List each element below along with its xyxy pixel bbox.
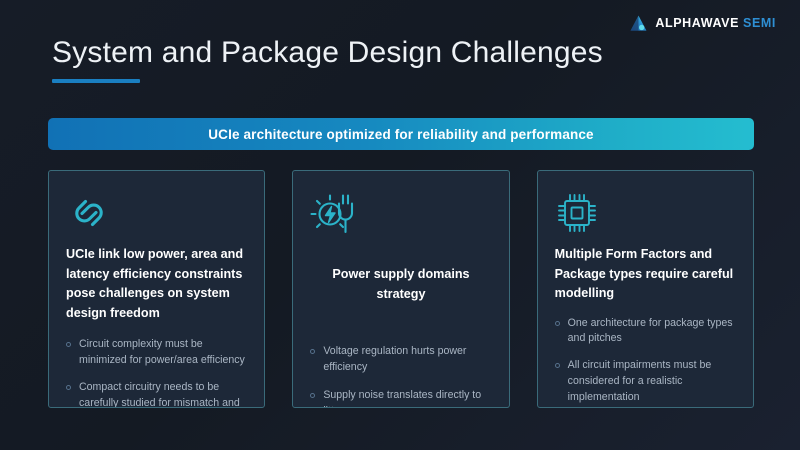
- list-item: Supply noise translates directly to jitt…: [310, 388, 491, 408]
- card-ucie-link: UCIe link low power, area and latency ef…: [48, 170, 265, 408]
- card-bullet-list: Voltage regulation hurts power efficienc…: [310, 344, 491, 408]
- bullet-ring-icon: [555, 321, 560, 326]
- highlight-banner-text: UCIe architecture optimized for reliabil…: [208, 127, 593, 142]
- bullet-ring-icon: [310, 393, 315, 398]
- title-underline-rule: [52, 79, 140, 83]
- bullet-ring-icon: [66, 342, 71, 347]
- card-form-factors: Multiple Form Factors and Package types …: [537, 170, 754, 408]
- page-title: System and Package Design Challenges: [52, 36, 603, 71]
- bullet-text: All circuit impairments must be consider…: [568, 358, 736, 406]
- logo-primary-text: ALPHAWAVE: [655, 17, 739, 30]
- list-item: One architecture for package types and p…: [555, 316, 736, 348]
- card-heading: UCIe link low power, area and latency ef…: [66, 245, 247, 323]
- bullet-text: One architecture for package types and p…: [568, 316, 736, 348]
- list-item: All circuit impairments must be consider…: [555, 358, 736, 406]
- chain-link-icon: [66, 191, 247, 235]
- microchip-icon: [555, 191, 736, 235]
- brand-logo: ALPHAWAVE SEMI: [629, 14, 776, 33]
- list-item: Voltage regulation hurts power efficienc…: [310, 344, 491, 376]
- card-bullet-list: One architecture for package types and p…: [555, 316, 736, 408]
- bullet-text: Voltage regulation hurts power efficienc…: [323, 344, 491, 376]
- bullet-ring-icon: [310, 349, 315, 354]
- card-bullet-list: Circuit complexity must be minimized for…: [66, 337, 247, 408]
- card-heading: Power supply domains strategy: [310, 265, 491, 304]
- bullet-ring-icon: [555, 363, 560, 368]
- bullet-ring-icon: [66, 385, 71, 390]
- highlight-banner: UCIe architecture optimized for reliabil…: [48, 118, 754, 150]
- power-plug-bolt-icon: [310, 191, 491, 237]
- logo-wordmark: ALPHAWAVE SEMI: [655, 17, 776, 30]
- bullet-text: Circuit complexity must be minimized for…: [79, 337, 247, 369]
- bullet-text: Supply noise translates directly to jitt…: [323, 388, 491, 408]
- list-item: Compact circuitry needs to be carefully …: [66, 380, 247, 408]
- card-heading: Multiple Form Factors and Package types …: [555, 245, 736, 304]
- card-row: UCIe link low power, area and latency ef…: [48, 170, 754, 408]
- bullet-text: Compact circuitry needs to be carefully …: [79, 380, 247, 408]
- list-item: Circuit complexity must be minimized for…: [66, 337, 247, 369]
- card-power-supply: Power supply domains strategy Voltage re…: [292, 170, 509, 408]
- logo-secondary-text: SEMI: [743, 17, 776, 30]
- page-title-block: System and Package Design Challenges: [52, 36, 603, 83]
- alphawave-triangle-mark-icon: [629, 14, 648, 33]
- slide-root: ALPHAWAVE SEMI System and Package Design…: [0, 0, 800, 450]
